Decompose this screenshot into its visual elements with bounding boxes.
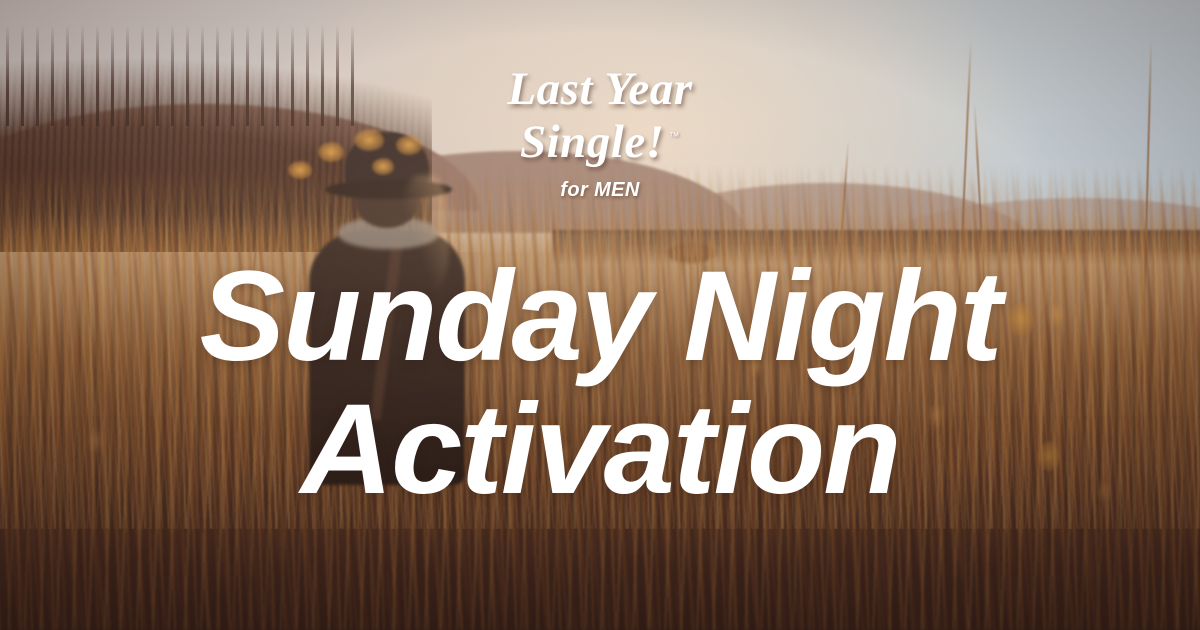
headline: Sunday Night Activation — [0, 250, 1200, 516]
headline-line-1: Sunday Night — [0, 250, 1200, 383]
text-overlay: Last Year Single!™ for MEN Sunday Night … — [0, 0, 1200, 630]
brand-line-1: Last Year — [0, 66, 1200, 113]
headline-line-2: Activation — [0, 383, 1200, 516]
brand-subtitle: for MEN — [0, 180, 1200, 200]
brand-logo: Last Year Single!™ for MEN — [0, 66, 1200, 200]
brand-line-2-text: Single! — [520, 116, 665, 168]
promo-graphic: Last Year Single!™ for MEN Sunday Night … — [0, 0, 1200, 630]
brand-line-2: Single!™ — [0, 119, 1200, 166]
trademark-symbol: ™ — [669, 131, 681, 143]
